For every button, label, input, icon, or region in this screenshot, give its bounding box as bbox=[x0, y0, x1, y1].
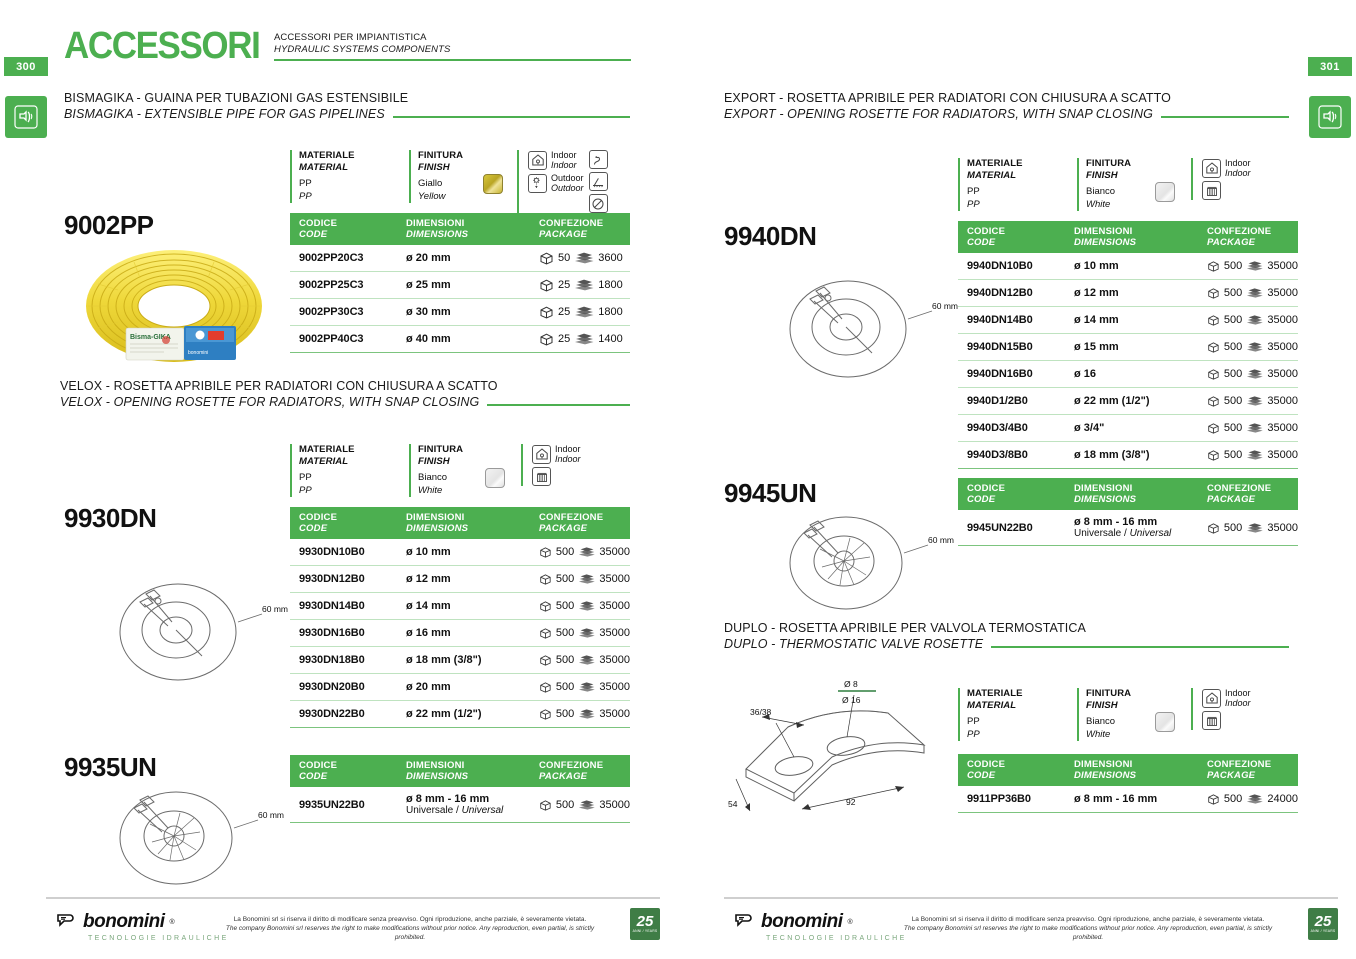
table-body: 9935UN22B0ø 8 mm - 16 mmUniversale / Uni… bbox=[290, 787, 630, 823]
pallet-icon bbox=[578, 708, 595, 720]
section-rule bbox=[487, 404, 630, 406]
material-value-it: PP bbox=[967, 185, 1063, 198]
footer-rule bbox=[46, 897, 660, 899]
cell-dimensions: ø 12 mm bbox=[397, 566, 530, 593]
outdoor-label-it: Outdoor bbox=[551, 173, 584, 183]
material-label-en: MATERIAL bbox=[967, 700, 1063, 712]
carton-box-icon bbox=[1207, 367, 1220, 381]
box-quantity: 500 bbox=[556, 799, 574, 811]
box-quantity: 500 bbox=[1224, 793, 1242, 805]
box-quantity: 25 bbox=[558, 306, 570, 318]
box-quantity: 500 bbox=[556, 600, 574, 612]
carton-box-icon bbox=[539, 545, 552, 559]
cell-dimensions: ø 15 mm bbox=[1065, 334, 1198, 361]
pallet-icon bbox=[1246, 422, 1263, 434]
table-row[interactable]: 9930DN18B0ø 18 mm (3/8")50035000 bbox=[290, 647, 630, 674]
dimension-label: 60 mm bbox=[258, 810, 284, 820]
section-title-en: DUPLO - THERMOSTATIC VALVE ROSETTE bbox=[724, 636, 983, 652]
pallet-icon bbox=[1246, 368, 1263, 380]
th-package: CONFEZIONEPACKAGE bbox=[1198, 221, 1298, 253]
masthead-subtitle-it: ACCESSORI PER IMPIANTISTICA bbox=[274, 32, 644, 44]
pallet-quantity: 35000 bbox=[1267, 341, 1298, 353]
finish-label-en: FINISH bbox=[418, 456, 481, 468]
cell-dimensions: ø 30 mm bbox=[397, 299, 530, 326]
cell-code: 9930DN22B0 bbox=[290, 701, 397, 728]
table-row[interactable]: 9002PP25C3ø 25 mm251800 bbox=[290, 272, 630, 299]
category-icon-tab-left[interactable] bbox=[5, 96, 47, 138]
th-code: CODICECODE bbox=[290, 507, 397, 539]
table-row[interactable]: 9940DN14B0ø 14 mm50035000 bbox=[958, 307, 1298, 334]
pallet-quantity: 35000 bbox=[599, 573, 630, 585]
table-row[interactable]: 9940D3/4B0ø 3/4"50035000 bbox=[958, 415, 1298, 442]
pallet-quantity: 35000 bbox=[1267, 449, 1298, 461]
cell-package: 50035000 bbox=[1198, 415, 1298, 442]
section-rule bbox=[991, 646, 1289, 648]
product-code-9002pp: 9002PP bbox=[64, 210, 154, 241]
table-row[interactable]: 9930DN14B0ø 14 mm50035000 bbox=[290, 593, 630, 620]
carton-box-icon bbox=[539, 653, 552, 667]
spec-strip-bismagika: MATERIALE MATERIAL PP PP FINITURA FINISH… bbox=[290, 150, 608, 213]
logo-tagline: TECNOLOGIE IDRAULICHE bbox=[88, 935, 229, 942]
spec-finish: FINITURA FINISH Bianco White bbox=[409, 444, 481, 497]
spec-material: MATERIALE MATERIAL PP PP bbox=[290, 444, 395, 497]
sun-outdoor-icon bbox=[528, 174, 547, 193]
finish-value-en: White bbox=[1086, 728, 1151, 741]
pallet-quantity: 35000 bbox=[599, 546, 630, 558]
cell-dimensions: ø 10 mm bbox=[397, 539, 530, 566]
box-quantity: 500 bbox=[1224, 260, 1242, 272]
cell-code: 9940D3/4B0 bbox=[958, 415, 1065, 442]
masthead-subtitle-en: HYDRAULIC SYSTEMS COMPONENTS bbox=[274, 44, 644, 56]
table-row[interactable]: 9945UN22B0ø 8 mm - 16 mmUniversale / Uni… bbox=[958, 510, 1298, 546]
material-label-en: MATERIAL bbox=[967, 170, 1063, 182]
cell-package: 50035000 bbox=[1198, 280, 1298, 307]
table-row[interactable]: 9940D3/8B0ø 18 mm (3/8")50035000 bbox=[958, 442, 1298, 469]
table-9002pp: CODICECODE DIMENSIONIDIMENSIONS CONFEZIO… bbox=[290, 213, 630, 353]
cell-package: 50035000 bbox=[1198, 361, 1298, 388]
spec-finish: FINITURA FINISH Giallo Yellow bbox=[409, 150, 479, 203]
cell-package: 50035000 bbox=[530, 620, 630, 647]
box-quantity: 500 bbox=[1224, 449, 1242, 461]
cell-code: 9940D3/8B0 bbox=[958, 442, 1065, 469]
carton-box-icon bbox=[539, 707, 552, 721]
box-quantity: 500 bbox=[556, 708, 574, 720]
pallet-quantity: 35000 bbox=[599, 799, 630, 811]
table-row[interactable]: 9930DN16B0ø 16 mm50035000 bbox=[290, 620, 630, 647]
masthead-rule bbox=[274, 59, 631, 61]
logo-wordmark: bonomini bbox=[761, 911, 842, 933]
pallet-icon bbox=[578, 799, 595, 811]
cell-package: 50035000 bbox=[530, 647, 630, 674]
cell-code: 9911PP36B0 bbox=[958, 786, 1065, 813]
dimension-label-d3: 36/38 bbox=[750, 707, 772, 717]
section-rule bbox=[393, 116, 630, 118]
footer-disclaimer: La Bonomini srl si riserva il diritto di… bbox=[215, 915, 605, 942]
indoor-label-en: Indoor bbox=[1225, 698, 1251, 708]
cell-dimensions: ø 18 mm (3/8") bbox=[1065, 442, 1198, 469]
cell-code: 9940D1/2B0 bbox=[958, 388, 1065, 415]
cell-code: 9945UN22B0 bbox=[958, 510, 1065, 546]
cell-package: 50035000 bbox=[1198, 388, 1298, 415]
table-9911pp: CODICECODE DIMENSIONIDIMENSIONS CONFEZIO… bbox=[958, 754, 1298, 813]
color-swatch-white bbox=[485, 468, 505, 488]
brand-logo: bonomini ® TECNOLOGIE IDRAULICHE bbox=[734, 911, 907, 942]
pallet-icon bbox=[578, 627, 595, 639]
house-indoor-icon bbox=[1202, 159, 1221, 178]
table-row[interactable]: 9940D1/2B0ø 22 mm (1/2")50035000 bbox=[958, 388, 1298, 415]
cell-dimensions: ø 12 mm bbox=[1065, 280, 1198, 307]
pallet-quantity: 35000 bbox=[599, 681, 630, 693]
pallet-quantity: 35000 bbox=[1267, 368, 1298, 380]
indoor-label-en: Indoor bbox=[551, 160, 577, 170]
carton-box-icon bbox=[539, 680, 552, 694]
cell-code: 9002PP25C3 bbox=[290, 272, 397, 299]
table-body: 9002PP20C3ø 20 mm5036009002PP25C3ø 25 mm… bbox=[290, 245, 630, 353]
cell-code: 9002PP30C3 bbox=[290, 299, 397, 326]
dimension-label: 60 mm bbox=[928, 535, 954, 545]
box-quantity: 500 bbox=[1224, 341, 1242, 353]
carton-box-icon bbox=[1207, 448, 1220, 462]
th-package: CONFEZIONEPACKAGE bbox=[530, 755, 630, 787]
th-dimensions: DIMENSIONIDIMENSIONS bbox=[397, 507, 530, 539]
cell-code: 9930DN16B0 bbox=[290, 620, 397, 647]
indoor-label-it: Indoor bbox=[1225, 688, 1251, 698]
spec-strip-export: MATERIALE MATERIAL PP PP FINITURA FINISH… bbox=[958, 158, 1251, 211]
table-row[interactable]: 9935UN22B0ø 8 mm - 16 mmUniversale / Uni… bbox=[290, 787, 630, 823]
cell-code: 9940DN16B0 bbox=[958, 361, 1065, 388]
finish-label-en: FINISH bbox=[418, 162, 479, 174]
cell-package: 251800 bbox=[530, 272, 630, 299]
section-title-it: VELOX - ROSETTA APRIBILE PER RADIATORI C… bbox=[60, 378, 630, 394]
product-code-9940dn: 9940DN bbox=[724, 221, 816, 252]
cell-package: 50035000 bbox=[1198, 334, 1298, 361]
carton-box-icon bbox=[1207, 313, 1220, 327]
cell-dimensions: ø 8 mm - 16 mmUniversale / Universal bbox=[397, 787, 530, 823]
usage-outdoor: Outdoor Outdoor bbox=[528, 173, 584, 193]
usage-indoor: Indoor Indoor bbox=[1202, 688, 1251, 708]
section-title-it: EXPORT - ROSETTA APRIBILE PER RADIATORI … bbox=[724, 90, 1289, 106]
th-code: CODICECODE bbox=[958, 478, 1065, 510]
left-page: 300 ACCESSORI ACCESSORI PER IMPIANTISTIC… bbox=[0, 0, 678, 959]
dimension-label-d4: 54 bbox=[728, 799, 738, 809]
logo-wordmark: bonomini bbox=[83, 911, 164, 933]
cell-code: 9935UN22B0 bbox=[290, 787, 397, 823]
usage-icons-export: Indoor Indoor bbox=[1191, 158, 1251, 200]
table-body: 9940DN10B0ø 10 mm500350009940DN12B0ø 12 … bbox=[958, 253, 1298, 469]
drawing-9940dn: 60 mm bbox=[776, 265, 966, 400]
radiator-icon bbox=[532, 467, 551, 486]
cell-dimensions: ø 16 mm bbox=[397, 620, 530, 647]
cell-code: 9930DN20B0 bbox=[290, 674, 397, 701]
box-quantity: 500 bbox=[556, 627, 574, 639]
material-value-it: PP bbox=[299, 177, 395, 190]
box-quantity: 500 bbox=[556, 573, 574, 585]
table-row[interactable]: 9940DN10B0ø 10 mm50035000 bbox=[958, 253, 1298, 280]
footer-disclaimer: La Bonomini srl si riserva il diritto di… bbox=[893, 915, 1283, 942]
material-label-en: MATERIAL bbox=[299, 456, 395, 468]
finish-label-it: FINITURA bbox=[1086, 158, 1151, 170]
badge-number: 25 bbox=[1315, 915, 1332, 929]
no-gas-prohibited-icon bbox=[589, 194, 608, 213]
section-heading-export: EXPORT - ROSETTA APRIBILE PER RADIATORI … bbox=[724, 90, 1289, 122]
pallet-icon bbox=[578, 546, 595, 558]
carton-box-icon bbox=[539, 278, 554, 292]
registered-mark: ® bbox=[847, 919, 852, 926]
cell-dimensions: ø 8 mm - 16 mm bbox=[1065, 786, 1198, 813]
pallet-quantity: 35000 bbox=[1267, 314, 1298, 326]
carton-box-icon bbox=[539, 332, 554, 346]
dimension-label-d1: Ø 8 bbox=[844, 679, 858, 689]
table-body: 9945UN22B0ø 8 mm - 16 mmUniversale / Uni… bbox=[958, 510, 1298, 546]
cell-code: 9940DN15B0 bbox=[958, 334, 1065, 361]
finish-label-it: FINITURA bbox=[418, 444, 481, 456]
th-code: CODICECODE bbox=[290, 213, 397, 245]
pallet-quantity: 35000 bbox=[1267, 395, 1298, 407]
cell-code: 9930DN10B0 bbox=[290, 539, 397, 566]
cell-package: 50035000 bbox=[530, 539, 630, 566]
house-indoor-icon bbox=[528, 151, 547, 170]
box-quantity: 500 bbox=[1224, 314, 1242, 326]
table-row[interactable]: 9002PP40C3ø 40 mm251400 bbox=[290, 326, 630, 353]
th-package: CONFEZIONEPACKAGE bbox=[1198, 478, 1298, 510]
svg-text:bonomini: bonomini bbox=[188, 350, 208, 356]
usage-icons-duplo: Indoor Indoor bbox=[1191, 688, 1251, 730]
box-quantity: 500 bbox=[556, 654, 574, 666]
section-rule bbox=[1161, 116, 1289, 118]
th-code: CODICECODE bbox=[290, 755, 397, 787]
section-heading-duplo: DUPLO - ROSETTA APRIBILE PER VALVOLA TER… bbox=[724, 620, 1289, 652]
material-label-it: MATERIALE bbox=[967, 688, 1063, 700]
cell-code: 9940DN12B0 bbox=[958, 280, 1065, 307]
dimension-label: 60 mm bbox=[262, 604, 288, 614]
footer-rule bbox=[724, 897, 1338, 899]
section-title-en: BISMAGIKA - EXTENSIBLE PIPE FOR GAS PIPE… bbox=[64, 106, 385, 122]
table-9940dn: CODICECODE DIMENSIONIDIMENSIONS CONFEZIO… bbox=[958, 221, 1298, 469]
pallet-quantity: 35000 bbox=[1267, 287, 1298, 299]
box-quantity: 500 bbox=[1224, 522, 1242, 534]
anniversary-badge: 25 ANNI / YEARS bbox=[630, 908, 660, 940]
table-row[interactable]: 9002PP30C3ø 30 mm251800 bbox=[290, 299, 630, 326]
pallet-icon bbox=[1246, 341, 1263, 353]
cell-dimensions: ø 14 mm bbox=[397, 593, 530, 620]
box-quantity: 500 bbox=[1224, 422, 1242, 434]
cell-dimensions: ø 16 bbox=[1065, 361, 1198, 388]
bonomini-mark-icon bbox=[734, 913, 756, 931]
th-package: CONFEZIONEPACKAGE bbox=[530, 213, 630, 245]
carton-box-icon bbox=[539, 798, 552, 812]
hose-reel-icon bbox=[1316, 103, 1344, 131]
table-row[interactable]: 9940DN16B0ø 1650035000 bbox=[958, 361, 1298, 388]
pallet-quantity: 35000 bbox=[599, 708, 630, 720]
finish-value-en: White bbox=[1086, 198, 1151, 211]
indoor-label-it: Indoor bbox=[555, 444, 581, 454]
drawing-9930dn: 60 mm bbox=[110, 560, 290, 695]
pallet-quantity: 1400 bbox=[598, 333, 622, 345]
material-value-it: PP bbox=[967, 715, 1063, 728]
material-label-it: MATERIALE bbox=[299, 444, 395, 456]
cell-code: 9940DN14B0 bbox=[958, 307, 1065, 334]
page-number-tab-left: 300 bbox=[4, 57, 48, 76]
badge-text: ANNI / YEARS bbox=[633, 929, 658, 934]
section-title-en: EXPORT - OPENING ROSETTE FOR RADIATORS, … bbox=[724, 106, 1153, 122]
finish-label-en: FINISH bbox=[1086, 170, 1151, 182]
masthead-subtitle: ACCESSORI PER IMPIANTISTICA HYDRAULIC SY… bbox=[274, 32, 644, 61]
section-title-it: DUPLO - ROSETTA APRIBILE PER VALVOLA TER… bbox=[724, 620, 1289, 636]
box-quantity: 50 bbox=[558, 252, 570, 264]
carton-box-icon bbox=[1207, 421, 1220, 435]
color-swatch-white bbox=[1155, 712, 1175, 732]
bonomini-mark-icon bbox=[56, 913, 78, 931]
usage-indoor: Indoor Indoor bbox=[1202, 158, 1251, 178]
product-code-9930dn: 9930DN bbox=[64, 503, 156, 534]
product-code-9935un: 9935UN bbox=[64, 752, 156, 783]
pallet-quantity: 35000 bbox=[599, 627, 630, 639]
carton-box-icon bbox=[1207, 521, 1220, 535]
carton-box-icon bbox=[1207, 259, 1220, 273]
registered-mark: ® bbox=[169, 919, 174, 926]
table-body: 9930DN10B0ø 10 mm500350009930DN12B0ø 12 … bbox=[290, 539, 630, 728]
carton-box-icon bbox=[1207, 286, 1220, 300]
table-row[interactable]: 9002PP20C3ø 20 mm503600 bbox=[290, 245, 630, 272]
pallet-quantity: 35000 bbox=[1267, 522, 1298, 534]
section-title-it: BISMAGIKA - GUAINA PER TUBAZIONI GAS EST… bbox=[64, 90, 630, 106]
material-label-it: MATERIALE bbox=[299, 150, 395, 162]
th-package: CONFEZIONEPACKAGE bbox=[530, 507, 630, 539]
usage-indoor: Indoor Indoor bbox=[528, 150, 584, 170]
pallet-quantity: 24000 bbox=[1267, 793, 1298, 805]
carton-box-icon bbox=[539, 599, 552, 613]
cell-dimensions: ø 20 mm bbox=[397, 674, 530, 701]
finish-label-it: FINITURA bbox=[1086, 688, 1151, 700]
table-row[interactable]: 9940DN12B0ø 12 mm50035000 bbox=[958, 280, 1298, 307]
disclaimer-it: La Bonomini srl si riserva il diritto di… bbox=[215, 915, 605, 924]
cell-package: 50035000 bbox=[1198, 307, 1298, 334]
table-row[interactable]: 9930DN10B0ø 10 mm50035000 bbox=[290, 539, 630, 566]
table-row[interactable]: 9930DN22B0ø 22 mm (1/2")50035000 bbox=[290, 701, 630, 728]
box-quantity: 500 bbox=[1224, 287, 1242, 299]
pallet-quantity: 35000 bbox=[599, 654, 630, 666]
pallet-icon bbox=[578, 573, 595, 585]
section-heading-velox: VELOX - ROSETTA APRIBILE PER RADIATORI C… bbox=[60, 378, 630, 410]
page-number-tab-right: 301 bbox=[1308, 57, 1352, 76]
finish-label-it: FINITURA bbox=[418, 150, 479, 162]
material-label-en: MATERIAL bbox=[299, 162, 395, 174]
cell-dimensions: ø 20 mm bbox=[397, 245, 530, 272]
indoor-label-it: Indoor bbox=[1225, 158, 1251, 168]
cell-code: 9002PP20C3 bbox=[290, 245, 397, 272]
cell-code: 9930DN12B0 bbox=[290, 566, 397, 593]
cell-package: 50035000 bbox=[530, 787, 630, 823]
pallet-icon bbox=[1246, 395, 1263, 407]
cell-dimensions: ø 10 mm bbox=[1065, 253, 1198, 280]
cell-package: 50035000 bbox=[1198, 253, 1298, 280]
pallet-icon bbox=[578, 654, 595, 666]
page-title: ACCESSORI bbox=[64, 26, 259, 66]
dimension-label: 60 mm bbox=[932, 301, 958, 311]
cell-code: 9930DN14B0 bbox=[290, 593, 397, 620]
cell-code: 9002PP40C3 bbox=[290, 326, 397, 353]
spec-strip-duplo: MATERIALE MATERIAL PP PP FINITURA FINISH… bbox=[958, 688, 1251, 741]
cell-dimensions: ø 14 mm bbox=[1065, 307, 1198, 334]
spec-finish: FINITURA FINISH Bianco White bbox=[1077, 158, 1151, 211]
material-label-it: MATERIALE bbox=[967, 158, 1063, 170]
spec-material: MATERIALE MATERIAL PP PP bbox=[958, 158, 1063, 211]
drawing-9945un: 60 mm bbox=[776, 505, 966, 620]
cell-package: 251400 bbox=[530, 326, 630, 353]
disclaimer-it: La Bonomini srl si riserva il diritto di… bbox=[893, 915, 1283, 924]
table-row[interactable]: 9930DN20B0ø 20 mm50035000 bbox=[290, 674, 630, 701]
finish-value-it: Giallo bbox=[418, 177, 479, 190]
cell-package: 50035000 bbox=[530, 593, 630, 620]
disclaimer-en: The company Bonomini srl reserves the ri… bbox=[893, 924, 1283, 942]
cell-package: 50035000 bbox=[1198, 510, 1298, 546]
finish-label-en: FINISH bbox=[1086, 700, 1151, 712]
color-swatch-yellow bbox=[483, 174, 503, 194]
carton-box-icon bbox=[539, 572, 552, 586]
finish-value-it: Bianco bbox=[1086, 185, 1151, 198]
pallet-icon bbox=[574, 279, 594, 291]
category-icon-tab-right[interactable] bbox=[1309, 96, 1351, 138]
pallet-quantity: 1800 bbox=[598, 306, 622, 318]
table-body: 9911PP36B0ø 8 mm - 16 mm50024000 bbox=[958, 786, 1298, 813]
spec-strip-velox: MATERIALE MATERIAL PP PP FINITURA FINISH… bbox=[290, 444, 581, 497]
table-row[interactable]: 9940DN15B0ø 15 mm50035000 bbox=[958, 334, 1298, 361]
outdoor-label-en: Outdoor bbox=[551, 183, 584, 193]
pallet-icon bbox=[1246, 449, 1263, 461]
flexible-pipe-icon bbox=[589, 150, 608, 169]
th-dimensions: DIMENSIONIDIMENSIONS bbox=[1065, 221, 1198, 253]
carton-box-icon bbox=[1207, 792, 1220, 806]
cell-code: 9940DN10B0 bbox=[958, 253, 1065, 280]
dimension-label-d2: Ø 16 bbox=[842, 695, 861, 705]
table-row[interactable]: 9930DN12B0ø 12 mm50035000 bbox=[290, 566, 630, 593]
badge-number: 25 bbox=[637, 915, 654, 929]
disclaimer-en: The company Bonomini srl reserves the ri… bbox=[215, 924, 605, 942]
house-indoor-icon bbox=[532, 445, 551, 464]
box-quantity: 500 bbox=[1224, 395, 1242, 407]
cell-dimensions: ø 22 mm (1/2") bbox=[1065, 388, 1198, 415]
brand-logo: bonomini ® TECNOLOGIE IDRAULICHE bbox=[56, 911, 229, 942]
usage-icons-bismagika: Indoor Indoor Outdoor Outdoor bbox=[517, 150, 608, 213]
hose-reel-icon bbox=[12, 103, 40, 131]
box-quantity: 500 bbox=[556, 681, 574, 693]
no-burial-icon bbox=[589, 172, 608, 191]
th-dimensions: DIMENSIONIDIMENSIONS bbox=[397, 755, 530, 787]
badge-text: ANNI / YEARS bbox=[1311, 929, 1336, 934]
table-row[interactable]: 9911PP36B0ø 8 mm - 16 mm50024000 bbox=[958, 786, 1298, 813]
carton-box-icon bbox=[539, 251, 554, 265]
cell-package: 50035000 bbox=[530, 566, 630, 593]
footer-left: bonomini ® TECNOLOGIE IDRAULICHE La Bono… bbox=[0, 897, 678, 959]
pallet-icon bbox=[578, 600, 595, 612]
radiator-icon bbox=[1202, 181, 1221, 200]
right-page: 301 ACCESSORI ACCESSORI PER IMPIANTISTIC… bbox=[678, 0, 1356, 959]
th-dimensions: DIMENSIONIDIMENSIONS bbox=[1065, 478, 1198, 510]
cell-dimensions: ø 18 mm (3/8") bbox=[397, 647, 530, 674]
material-value-en: PP bbox=[299, 484, 395, 497]
house-indoor-icon bbox=[1202, 689, 1221, 708]
carton-box-icon bbox=[539, 305, 554, 319]
usage-icons-velox: Indoor Indoor bbox=[521, 444, 581, 486]
finish-value-it: Bianco bbox=[418, 471, 481, 484]
pallet-quantity: 35000 bbox=[1267, 422, 1298, 434]
logo-tagline: TECNOLOGIE IDRAULICHE bbox=[766, 935, 907, 942]
material-value-en: PP bbox=[967, 198, 1063, 211]
usage-indoor: Indoor Indoor bbox=[532, 444, 581, 464]
indoor-label-en: Indoor bbox=[555, 454, 581, 464]
pallet-icon bbox=[1246, 522, 1263, 534]
pallet-icon bbox=[578, 681, 595, 693]
